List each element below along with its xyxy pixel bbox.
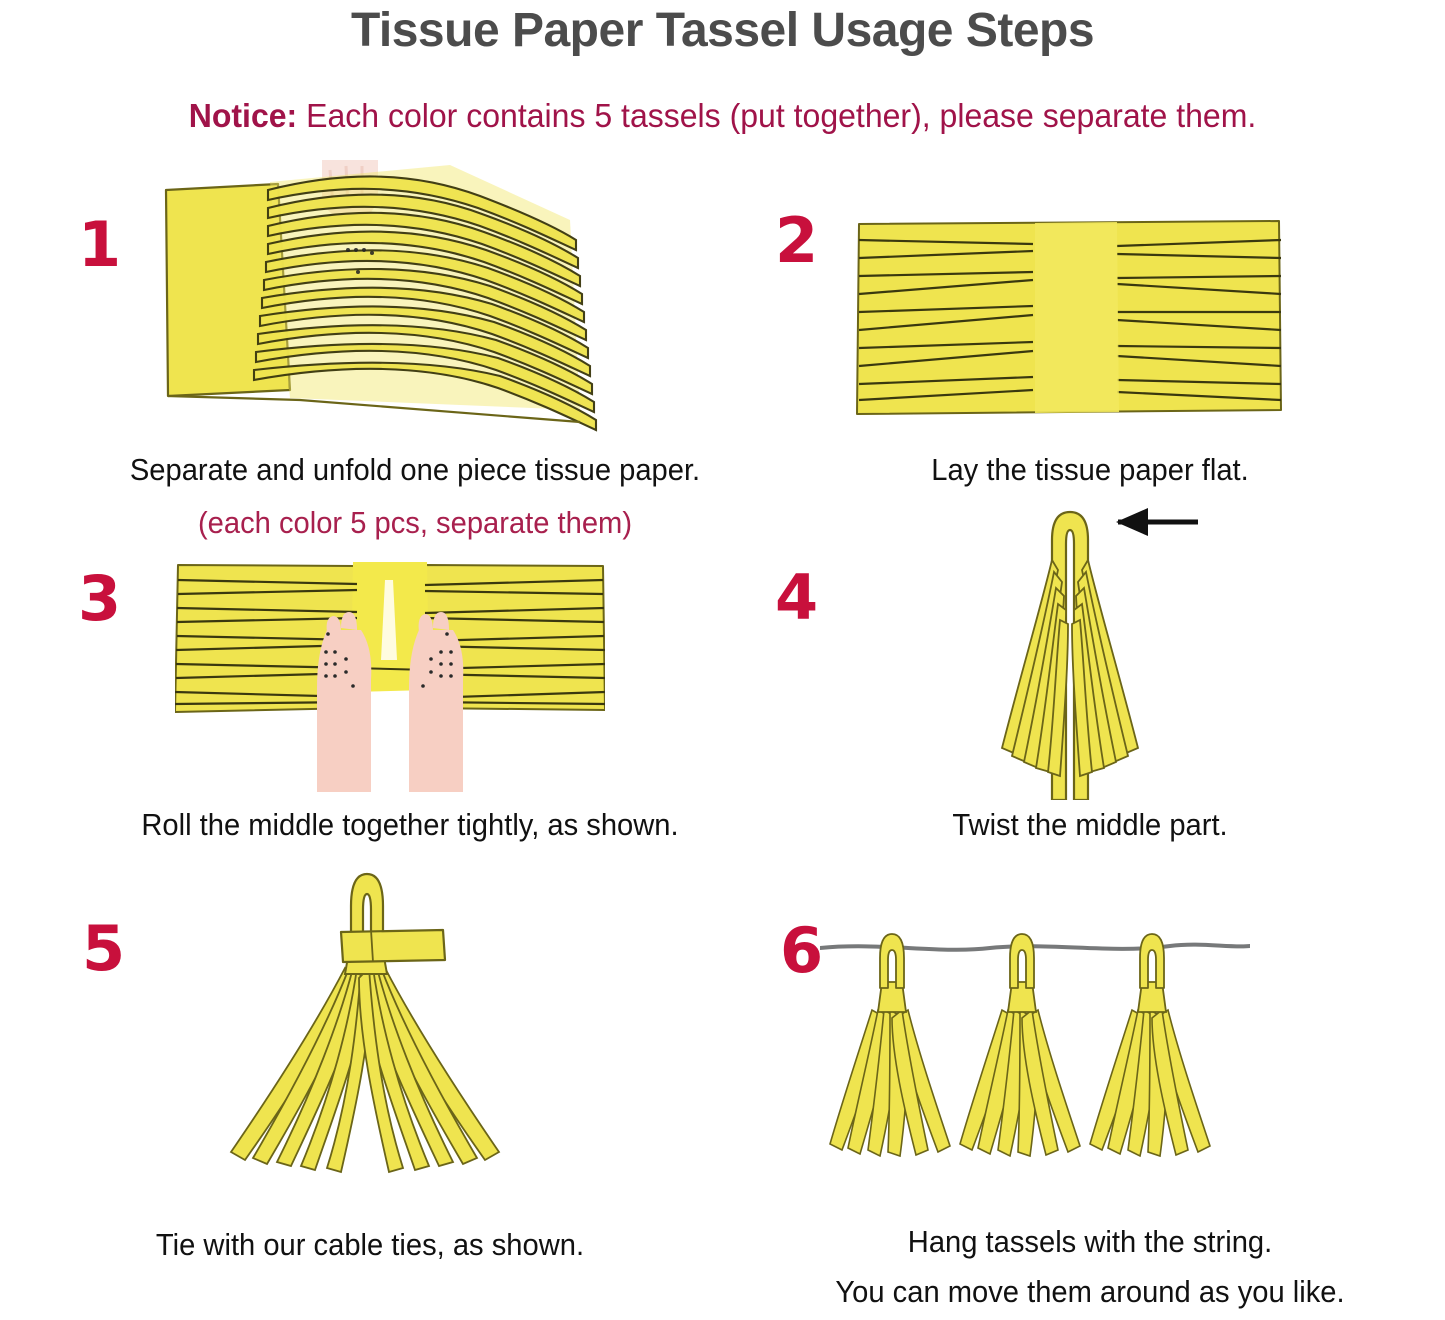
step-2-number: 2 [775,210,818,272]
step-1-caption: Separate and unfold one piece tissue pap… [25,450,805,489]
step-4-number: 4 [775,567,818,629]
step-2-caption: Lay the tissue paper flat. [808,450,1372,489]
step-6-number: 6 [780,920,823,982]
step-6-caption: Hang tassels with the string. [761,1222,1419,1261]
tassel-3 [1090,934,1210,1156]
step-1-illustration [150,160,610,435]
step-6-illustration [820,920,1250,1190]
step-1-number: 1 [78,214,121,276]
step-6-caption-sub: You can move them around as you like. [761,1272,1419,1311]
step-3-illustration [175,560,605,795]
tassel-1 [830,934,950,1156]
step-5-illustration [195,868,555,1188]
step-5-number: 5 [82,918,125,980]
tassel-2 [960,934,1080,1156]
step-1-caption-sub: (each color 5 pcs, separate them) [25,503,805,542]
step-3-number: 3 [78,568,121,630]
step-2-illustration [855,218,1285,418]
step-3-caption: Roll the middle together tightly, as sho… [25,805,796,844]
page-title: Tissue Paper Tassel Usage Steps [0,2,1445,60]
step-5-caption: Tie with our cable ties, as shown. [22,1225,718,1264]
step-4-illustration [940,500,1200,800]
notice-text: Each color contains 5 tassels (put toget… [297,97,1256,134]
twist-arrow-icon [1116,508,1198,536]
notice-banner: Notice: Each color contains 5 tassels (p… [22,96,1424,136]
notice-label: Notice: [189,97,297,134]
step-4-caption: Twist the middle part. [808,805,1372,844]
